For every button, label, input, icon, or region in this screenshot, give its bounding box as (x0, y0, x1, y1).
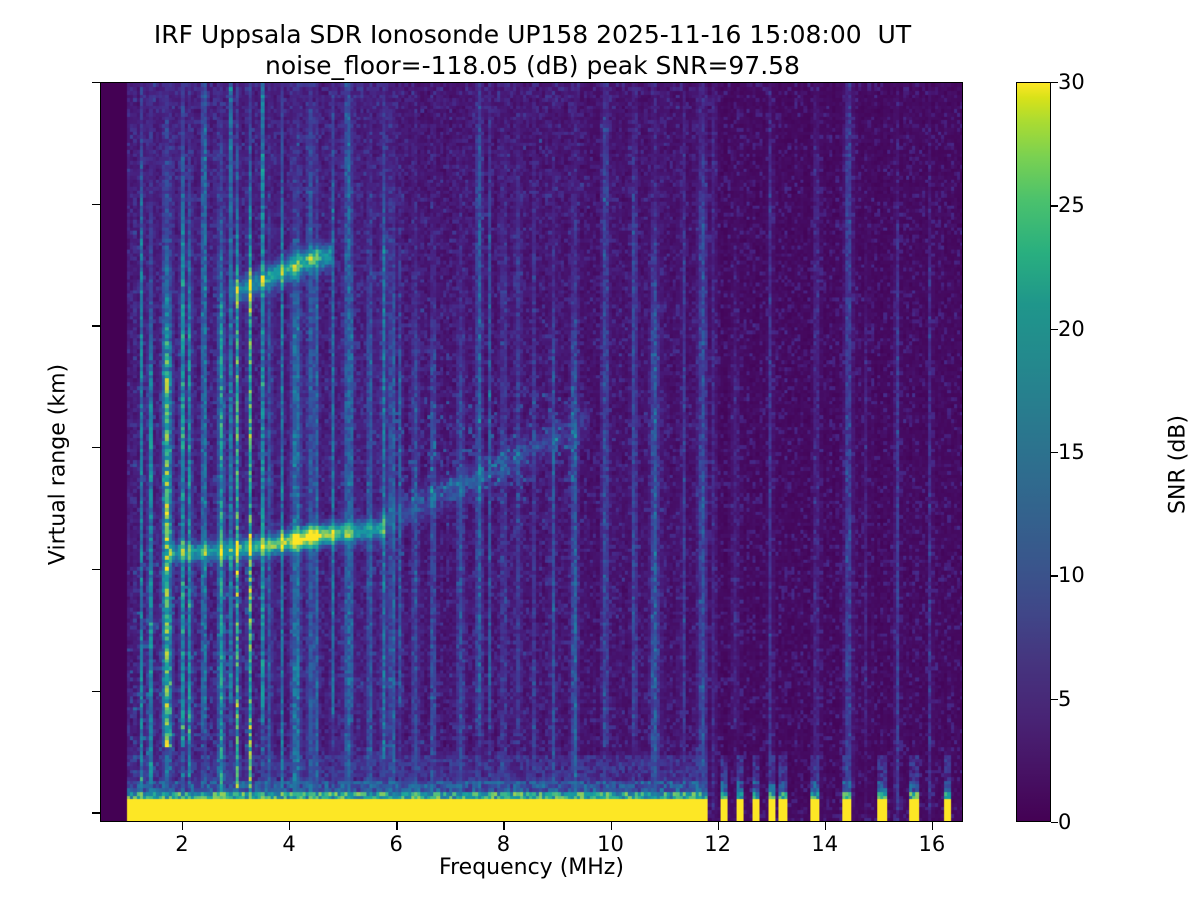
colorbar-tick-mark (1051, 82, 1058, 83)
ionogram-figure: IRF Uppsala SDR Ionosonde UP158 2025-11-… (0, 0, 1200, 900)
x-tick-label: 6 (356, 832, 436, 856)
y-tick-mark (92, 691, 100, 692)
y-tick-mark (92, 569, 100, 570)
x-tick-label: 14 (785, 832, 865, 856)
ionogram-heatmap-canvas (101, 83, 962, 821)
x-tick-mark (825, 822, 826, 830)
y-tick-mark (92, 82, 100, 83)
colorbar-tick-label: 15 (1058, 440, 1085, 464)
colorbar-tick-label: 25 (1058, 193, 1085, 217)
colorbar-tick-mark (1051, 329, 1058, 330)
y-tick-mark (92, 325, 100, 326)
ionogram-plot-area (100, 82, 963, 822)
colorbar-tick-mark (1051, 205, 1058, 206)
y-tick-mark (92, 204, 100, 205)
x-tick-label: 16 (892, 832, 972, 856)
colorbar-tick-mark (1051, 575, 1058, 576)
figure-title: IRF Uppsala SDR Ionosonde UP158 2025-11-… (0, 20, 1065, 81)
colorbar-tick-mark (1051, 452, 1058, 453)
x-tick-label: 4 (249, 832, 329, 856)
title-line-2: noise_floor=-118.05 (dB) peak SNR=97.58 (0, 51, 1065, 82)
colorbar-tick-mark (1051, 699, 1058, 700)
x-tick-label: 2 (142, 832, 222, 856)
snr-colorbar (1016, 82, 1051, 822)
x-tick-mark (503, 822, 504, 830)
colorbar-tick-label: 30 (1058, 70, 1085, 94)
x-tick-label: 10 (571, 832, 651, 856)
colorbar-tick-label: 10 (1058, 563, 1085, 587)
x-tick-mark (718, 822, 719, 830)
colorbar-label: SNR (dB) (1166, 265, 1191, 665)
colorbar-tick-mark (1051, 822, 1058, 823)
y-axis-label: Virtual range (km) (46, 265, 71, 665)
x-tick-mark (932, 822, 933, 830)
x-tick-mark (611, 822, 612, 830)
x-tick-label: 12 (678, 832, 758, 856)
y-tick-mark (92, 447, 100, 448)
x-tick-mark (396, 822, 397, 830)
title-line-1: IRF Uppsala SDR Ionosonde UP158 2025-11-… (154, 20, 911, 49)
x-axis-label: Frequency (MHz) (100, 855, 963, 880)
colorbar-tick-label: 20 (1058, 317, 1085, 341)
x-tick-mark (289, 822, 290, 830)
colorbar-tick-label: 0 (1058, 810, 1071, 834)
x-tick-label: 8 (463, 832, 543, 856)
x-tick-mark (182, 822, 183, 830)
colorbar-tick-label: 5 (1058, 687, 1071, 711)
y-tick-mark (92, 812, 100, 813)
